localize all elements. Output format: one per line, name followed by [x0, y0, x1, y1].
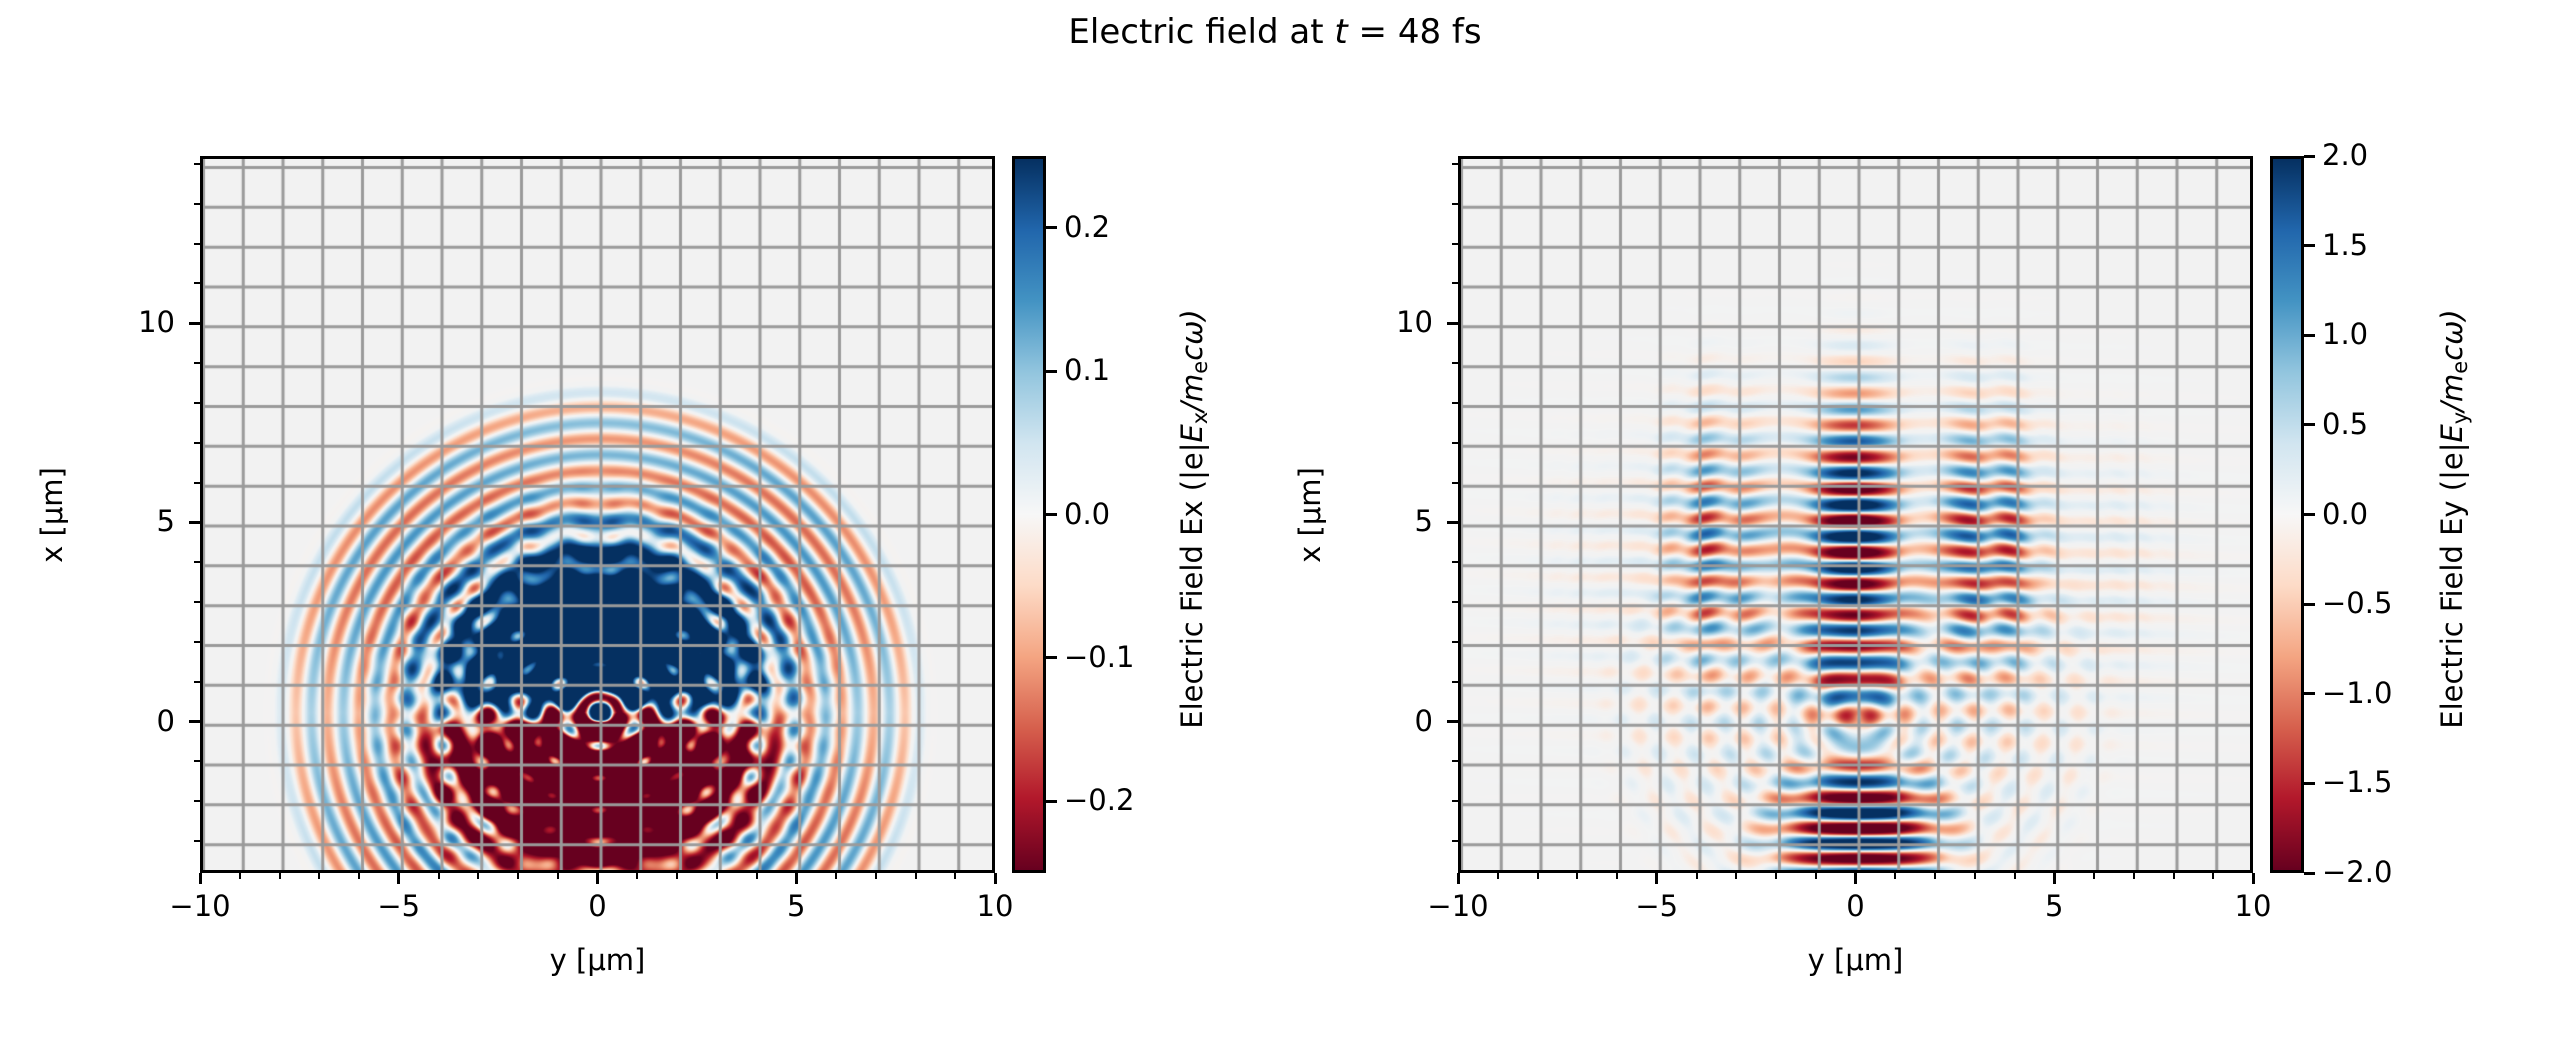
colorbar-tick — [2304, 334, 2315, 337]
colorbar-tick — [1046, 226, 1057, 229]
xaxis-major-tick — [1655, 873, 1658, 884]
xaxis-minor-tick — [875, 873, 877, 879]
yaxis-major-tick — [1447, 521, 1458, 524]
xaxis-minor-tick — [1775, 873, 1777, 879]
yaxis-minor-tick — [1452, 641, 1458, 643]
colorbar-tick-label: 1.0 — [2322, 317, 2442, 351]
yaxis-minor-tick — [194, 203, 200, 205]
colorbar-label-left: Electric Field Ex (|e|Ex/mecω) — [1175, 139, 1217, 899]
xaxis-major-tick — [1457, 873, 1460, 884]
colorbar-label-tail: cω) — [2435, 309, 2469, 361]
xaxis-minor-tick — [358, 873, 360, 879]
colorbar-tick-label: −0.5 — [2322, 586, 2442, 620]
yaxis-minor-tick — [194, 402, 200, 404]
xaxis-minor-tick — [1537, 873, 1539, 879]
yaxis-tick-label: 10 — [50, 305, 175, 339]
yaxis-minor-tick — [194, 840, 200, 842]
xaxis-tick-label: 5 — [736, 889, 856, 923]
yaxis-minor-tick — [194, 800, 200, 802]
colorbar-tick — [1046, 800, 1057, 803]
xaxis-minor-tick — [636, 873, 638, 879]
yaxis-minor-tick — [1452, 482, 1458, 484]
xaxis-minor-tick — [676, 873, 678, 879]
title-variable-t: t — [1334, 12, 1347, 52]
xaxis-tick-label: −10 — [1398, 889, 1518, 923]
colorbar-label-mass-symbol: m — [1175, 373, 1209, 401]
yaxis-minor-tick — [1452, 402, 1458, 404]
xaxis-minor-tick — [954, 873, 956, 879]
xaxis-tick-label: 0 — [538, 889, 658, 923]
yaxis-minor-tick — [1452, 243, 1458, 245]
yaxis-minor-tick — [1452, 840, 1458, 842]
xaxis-label-left: y [μm] — [200, 943, 995, 977]
yaxis-label-right: x [μm] — [1293, 365, 1327, 665]
colorbar-label-field-subscript: x — [1188, 411, 1212, 423]
xaxis-tick-label: −10 — [140, 889, 260, 923]
xaxis-major-tick — [596, 873, 599, 884]
yaxis-minor-tick — [194, 681, 200, 683]
colorbar-tick-label: 0.1 — [1064, 353, 1184, 387]
yaxis-minor-tick — [1452, 282, 1458, 284]
xaxis-major-tick — [199, 873, 202, 884]
xaxis-major-tick — [2053, 873, 2056, 884]
xaxis-minor-tick — [2212, 873, 2214, 879]
xaxis-minor-tick — [1934, 873, 1936, 879]
yaxis-minor-tick — [1452, 561, 1458, 563]
colorbar-tick-label: −1.5 — [2322, 765, 2442, 799]
yaxis-minor-tick — [1452, 362, 1458, 364]
xaxis-minor-tick — [2093, 873, 2095, 879]
colorbar-label-slash: / — [2435, 401, 2469, 411]
xaxis-minor-tick — [915, 873, 917, 879]
colorbar-tick — [2304, 423, 2315, 426]
yaxis-minor-tick — [194, 641, 200, 643]
xaxis-minor-tick — [517, 873, 519, 879]
colorbar-tick — [1046, 513, 1057, 516]
yaxis-minor-tick — [1452, 442, 1458, 444]
xaxis-major-tick — [397, 873, 400, 884]
colorbar-tick-label: 0.5 — [2322, 407, 2442, 441]
xaxis-minor-tick — [835, 873, 837, 879]
yaxis-minor-tick — [1452, 800, 1458, 802]
xaxis-minor-tick — [1497, 873, 1499, 879]
xaxis-minor-tick — [1735, 873, 1737, 879]
title-suffix: = 48 fs — [1348, 12, 1482, 52]
colorbar-tick-label: 1.5 — [2322, 228, 2442, 262]
yaxis-minor-tick — [1452, 681, 1458, 683]
colorbar-tick — [1046, 370, 1057, 373]
colorbar-tick — [2304, 692, 2315, 695]
yaxis-major-tick — [189, 521, 200, 524]
colorbar-tick — [2304, 782, 2315, 785]
yaxis-minor-tick — [194, 561, 200, 563]
yaxis-minor-tick — [194, 243, 200, 245]
xaxis-minor-tick — [1815, 873, 1817, 879]
xaxis-minor-tick — [239, 873, 241, 879]
xaxis-minor-tick — [1974, 873, 1976, 879]
yaxis-minor-tick — [194, 442, 200, 444]
yaxis-minor-tick — [194, 163, 200, 165]
xaxis-minor-tick — [477, 873, 479, 879]
yaxis-major-tick — [1447, 720, 1458, 723]
xaxis-minor-tick — [318, 873, 320, 879]
yaxis-minor-tick — [194, 760, 200, 762]
colorbar-tick — [2304, 244, 2315, 247]
axes-left-ex[interactable] — [200, 156, 995, 873]
xaxis-minor-tick — [2014, 873, 2016, 879]
yaxis-minor-tick — [1452, 163, 1458, 165]
xaxis-tick-label: −5 — [1597, 889, 1717, 923]
xaxis-minor-tick — [2133, 873, 2135, 879]
colorbar-label-mass-subscript: e — [2448, 360, 2472, 373]
xaxis-tick-label: 10 — [935, 889, 1055, 923]
xaxis-minor-tick — [438, 873, 440, 879]
xaxis-minor-tick — [1696, 873, 1698, 879]
colorbar-label-slash: / — [1175, 401, 1209, 411]
colorbar-tick-label: 2.0 — [2322, 138, 2442, 172]
yaxis-tick-label: 10 — [1308, 305, 1433, 339]
colorbar-left-ex[interactable] — [1012, 156, 1046, 873]
heatmap-right-ey — [1461, 159, 2253, 873]
colorbar-label-field-symbol: E — [2435, 424, 2469, 442]
yaxis-minor-tick — [1452, 203, 1458, 205]
colorbar-tick-label: 0.0 — [1064, 497, 1184, 531]
yaxis-minor-tick — [1452, 760, 1458, 762]
title-prefix: Electric field at — [1068, 12, 1334, 52]
yaxis-label-left: x [μm] — [35, 365, 69, 665]
colorbar-tick — [2304, 155, 2315, 158]
colorbar-right-ey[interactable] — [2270, 156, 2304, 873]
colorbar-tick — [2304, 603, 2315, 606]
colorbar-gradient-left — [1015, 159, 1043, 870]
xaxis-major-tick — [994, 873, 997, 884]
yaxis-minor-tick — [194, 482, 200, 484]
xaxis-major-tick — [2252, 873, 2255, 884]
xaxis-tick-label: 5 — [1994, 889, 2114, 923]
colorbar-label-mass-symbol: m — [2435, 373, 2469, 401]
colorbar-label-field-symbol: E — [1175, 424, 1209, 442]
yaxis-minor-tick — [1452, 601, 1458, 603]
xaxis-minor-tick — [756, 873, 758, 879]
figure-title: Electric field at t = 48 fs — [0, 8, 2550, 56]
xaxis-tick-label: 10 — [2193, 889, 2313, 923]
xaxis-major-tick — [795, 873, 798, 884]
yaxis-minor-tick — [194, 362, 200, 364]
colorbar-tick-label: −1.0 — [2322, 676, 2442, 710]
xaxis-major-tick — [1854, 873, 1857, 884]
yaxis-major-tick — [189, 720, 200, 723]
colorbar-label-right: Electric Field Ey (|e|Ey/mecω) — [2435, 139, 2477, 899]
colorbar-tick — [2304, 872, 2315, 875]
axes-right-ey[interactable] — [1458, 156, 2253, 873]
colorbar-tick-label: 0.2 — [1064, 210, 1184, 244]
colorbar-label-mass-subscript: e — [1188, 360, 1212, 373]
colorbar-label-lead: Electric Field Ey (|e| — [2435, 442, 2469, 728]
yaxis-major-tick — [189, 322, 200, 325]
colorbar-tick-label: 0.0 — [2322, 497, 2442, 531]
yaxis-tick-label: 0 — [1308, 704, 1433, 738]
xaxis-minor-tick — [557, 873, 559, 879]
colorbar-label-lead: Electric Field Ex (|e| — [1175, 442, 1209, 728]
xaxis-tick-label: −5 — [339, 889, 459, 923]
colorbar-tick-label: −0.2 — [1064, 783, 1184, 817]
yaxis-tick-label: 0 — [50, 704, 175, 738]
heatmap-left-ex — [203, 159, 995, 873]
xaxis-tick-label: 0 — [1796, 889, 1916, 923]
colorbar-label-field-subscript: y — [2448, 411, 2472, 423]
xaxis-label-right: y [μm] — [1458, 943, 2253, 977]
colorbar-tick-label: −0.1 — [1064, 640, 1184, 674]
xaxis-minor-tick — [1576, 873, 1578, 879]
yaxis-major-tick — [1447, 322, 1458, 325]
xaxis-minor-tick — [2173, 873, 2175, 879]
colorbar-tick — [2304, 513, 2315, 516]
xaxis-minor-tick — [279, 873, 281, 879]
xaxis-minor-tick — [1894, 873, 1896, 879]
yaxis-minor-tick — [194, 601, 200, 603]
colorbar-tick — [1046, 656, 1057, 659]
colorbar-label-tail: cω) — [1175, 309, 1209, 361]
xaxis-minor-tick — [1616, 873, 1618, 879]
yaxis-minor-tick — [194, 282, 200, 284]
colorbar-tick-label: −2.0 — [2322, 855, 2442, 889]
colorbar-gradient-right — [2273, 159, 2301, 870]
xaxis-minor-tick — [716, 873, 718, 879]
